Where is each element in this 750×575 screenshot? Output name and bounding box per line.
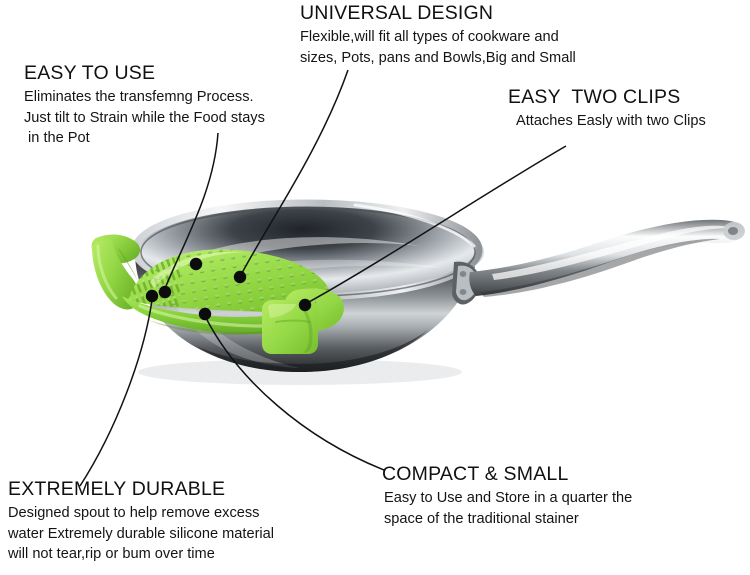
strainer-band-glint [140, 306, 262, 326]
callout-body-extremely-durable: Designed spout to help remove excess wat… [8, 503, 274, 563]
callout-universal-design: UNIVERSAL DESIGN Flexible,will fit all t… [300, 2, 576, 68]
leader-dot-universal [234, 271, 246, 283]
pan-shadow [138, 359, 462, 385]
strainer-front-band [122, 296, 334, 334]
handle-bracket [452, 262, 480, 305]
stainless-steel-frying-pan [135, 203, 745, 372]
strainer-band-shadow [148, 320, 296, 335]
callout-title-extremely-durable: EXTREMELY DURABLE [8, 478, 274, 500]
callout-extremely-durable: EXTREMELY DURABLE Designed spout to help… [8, 478, 274, 564]
green-silicone-strainer [92, 235, 344, 354]
clip-plate-emboss [276, 321, 310, 323]
clip-metal-insert [296, 300, 316, 306]
callout-title-compact-small: COMPACT & SMALL [382, 463, 632, 485]
callout-easy-two-clips: EASY TWO CLIPS Attaches Easly with two C… [508, 86, 706, 132]
leader-dot-universal-2 [190, 258, 202, 270]
leader-dots [146, 258, 311, 320]
callout-compact-small: COMPACT & SMALL Easy to Use and Store in… [382, 463, 632, 529]
pan-rim-glint [355, 205, 474, 246]
leader-line-durable [80, 300, 152, 486]
callout-body-universal-design: Flexible,will fit all types of cookware … [300, 27, 576, 67]
pan-belly-highlight [172, 300, 300, 368]
clip-plate-highlight [268, 304, 296, 318]
leader-line-compact [206, 318, 384, 470]
handle-top-glint [492, 226, 738, 280]
pan-bowl-interior [136, 205, 484, 299]
pan-base-band [196, 330, 428, 372]
infographic-root: EASY TO USE Eliminates the transfemng Pr… [0, 0, 750, 575]
pan-interior-arc [205, 260, 445, 288]
leader-dot-easy-to-use [159, 286, 171, 298]
right-clip-tab [262, 288, 344, 354]
handle-end-cap [723, 222, 745, 240]
pan-handle [469, 220, 744, 296]
strainer-perforations [124, 246, 340, 316]
leader-dot-two-clips [299, 299, 311, 311]
callout-title-universal-design: UNIVERSAL DESIGN [300, 2, 576, 24]
leader-line-two-clips [309, 146, 566, 302]
callout-body-easy-to-use: Eliminates the transfemng Process. Just … [24, 87, 265, 147]
pan-rim-inner [141, 208, 475, 296]
strainer-top-face [128, 249, 330, 312]
leader-dot-durable [146, 290, 158, 302]
pan-bowl-outer [135, 250, 478, 372]
strainer-top-highlight [150, 252, 244, 288]
left-clip-spout [92, 235, 141, 310]
callout-title-easy-two-clips: EASY TWO CLIPS [508, 86, 706, 108]
pan-interior-sheen [180, 237, 420, 274]
leader-line-easy-to-use [166, 133, 218, 286]
handle-end-hole [728, 227, 738, 235]
clip-plate-shade [300, 304, 313, 353]
callout-easy-to-use: EASY TO USE Eliminates the transfemng Pr… [24, 62, 265, 148]
callout-body-easy-two-clips: Attaches Easly with two Clips [516, 111, 706, 131]
pan-rim-outer [135, 203, 479, 297]
leader-dot-compact [199, 308, 211, 320]
clip-front-plate [262, 300, 318, 354]
callout-title-easy-to-use: EASY TO USE [24, 62, 265, 84]
handle-under-shade [480, 239, 720, 297]
callout-body-compact-small: Easy to Use and Store in a quarter the s… [384, 488, 632, 528]
